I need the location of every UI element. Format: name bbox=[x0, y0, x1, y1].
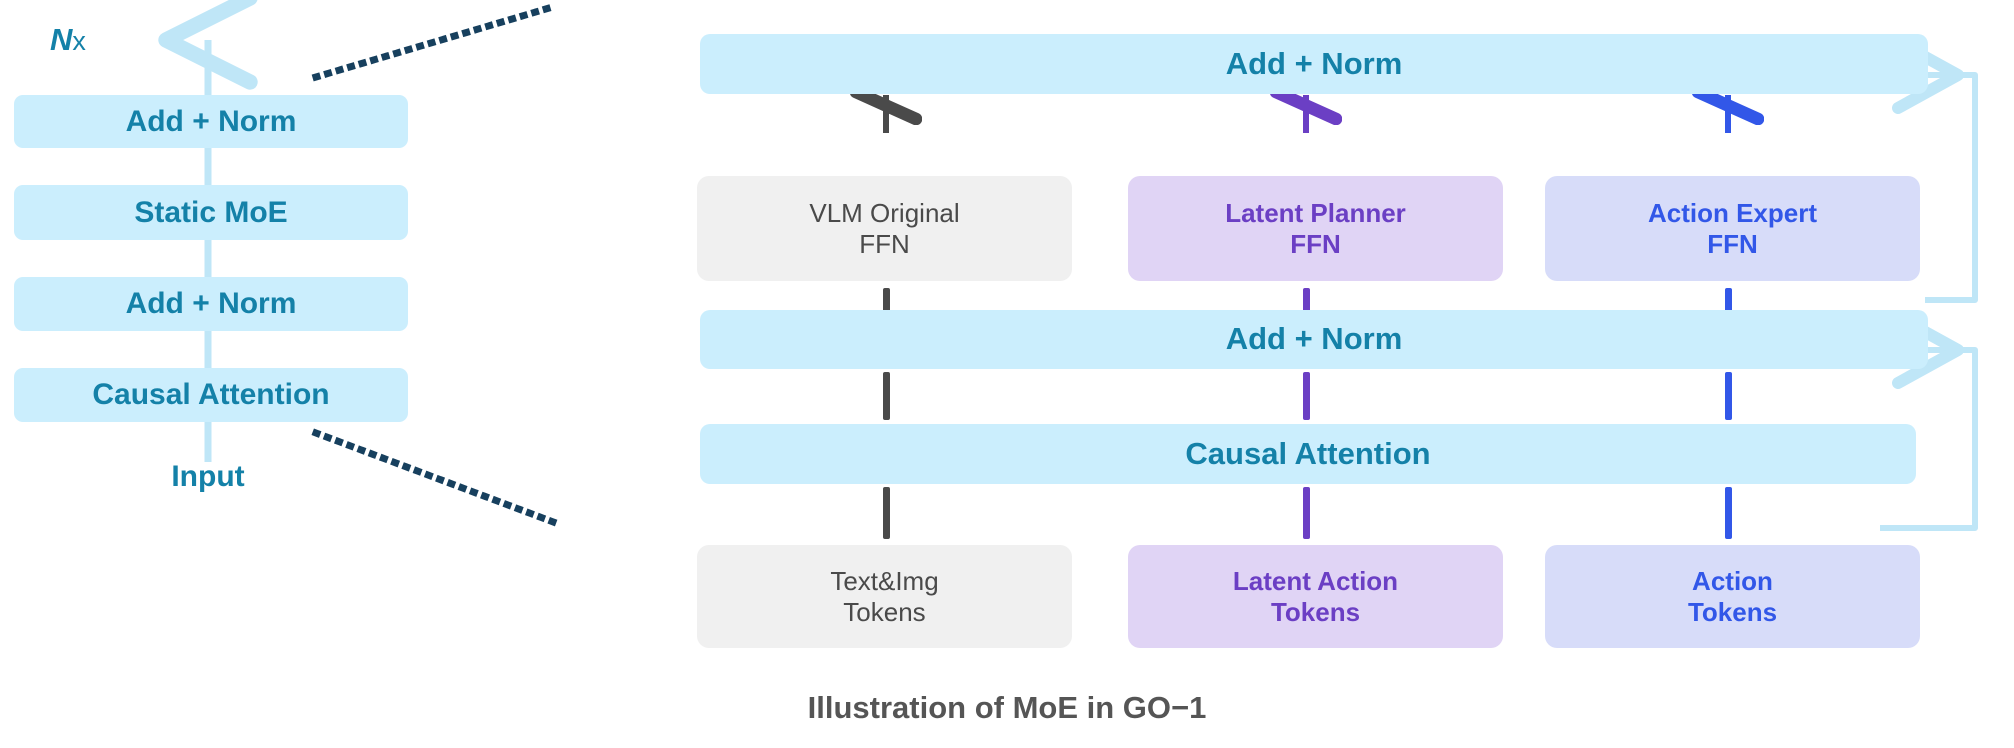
ffn-box-vlm-original[interactable]: VLM Original FFN bbox=[697, 176, 1072, 281]
left-block-static-moe[interactable]: Static MoE bbox=[14, 185, 408, 240]
left-block-causal-attention[interactable]: Causal Attention bbox=[14, 368, 408, 422]
ffn-box-line1: VLM Original bbox=[809, 198, 959, 229]
left-block-label: Causal Attention bbox=[92, 377, 329, 412]
ffn-box-line2: FFN bbox=[1290, 229, 1341, 260]
right-causal-attention-bar[interactable]: Causal Attention bbox=[700, 424, 1916, 484]
ffn-to-addnorm-arrows bbox=[886, 95, 1728, 133]
figure-caption: Illustration of MoE in GO−1 bbox=[0, 690, 2014, 726]
repeat-count-label: Nx bbox=[50, 22, 86, 58]
right-top-add-norm-bar[interactable]: Add + Norm bbox=[700, 34, 1928, 94]
left-input-label: Input bbox=[108, 460, 308, 494]
stream-line-latent-addnorm-to-attn bbox=[1303, 372, 1310, 420]
repeat-count-x: x bbox=[72, 26, 86, 56]
token-box-line2: Tokens bbox=[1688, 597, 1777, 628]
ffn-box-action-expert[interactable]: Action Expert FFN bbox=[1545, 176, 1920, 281]
token-box-latent-action[interactable]: Latent Action Tokens bbox=[1128, 545, 1503, 648]
ffn-box-line2: FFN bbox=[859, 229, 910, 260]
stream-line-vlm-tokens-to-attn bbox=[883, 487, 890, 539]
stream-line-action-addnorm-to-attn bbox=[1725, 372, 1732, 420]
token-box-line2: Tokens bbox=[843, 597, 925, 628]
right-top-add-norm-label: Add + Norm bbox=[1226, 46, 1403, 83]
ffn-box-latent-planner[interactable]: Latent Planner FFN bbox=[1128, 176, 1503, 281]
token-box-line2: Tokens bbox=[1271, 597, 1360, 628]
right-causal-attention-label: Causal Attention bbox=[1185, 436, 1430, 473]
token-box-line1: Latent Action bbox=[1233, 566, 1398, 597]
residual-skip-top bbox=[1925, 75, 1975, 300]
ffn-box-line2: FFN bbox=[1707, 229, 1758, 260]
left-block-add-norm-bottom[interactable]: Add + Norm bbox=[14, 277, 408, 331]
dotted-connector-bottom-icon bbox=[316, 433, 556, 523]
token-box-line1: Text&Img bbox=[830, 566, 938, 597]
token-box-action[interactable]: Action Tokens bbox=[1545, 545, 1920, 648]
repeat-count-n: N bbox=[50, 22, 72, 57]
ffn-box-line1: Latent Planner bbox=[1225, 198, 1406, 229]
ffn-box-line1: Action Expert bbox=[1648, 198, 1817, 229]
stream-line-latent-tokens-to-attn bbox=[1303, 487, 1310, 539]
stream-line-action-tokens-to-attn bbox=[1725, 487, 1732, 539]
token-box-line1: Action bbox=[1692, 566, 1773, 597]
right-mid-add-norm-bar[interactable]: Add + Norm bbox=[700, 310, 1928, 369]
stream-line-vlm-addnorm-to-attn bbox=[883, 372, 890, 420]
right-mid-add-norm-label: Add + Norm bbox=[1226, 321, 1403, 358]
left-block-label: Add + Norm bbox=[126, 286, 297, 321]
left-block-add-norm-top[interactable]: Add + Norm bbox=[14, 95, 408, 148]
dotted-connector-top-icon bbox=[316, 6, 556, 77]
left-block-label: Add + Norm bbox=[126, 104, 297, 139]
figure-canvas: Nx Add + Norm Static MoE Add + Norm Caus… bbox=[0, 0, 2014, 748]
token-box-text-img[interactable]: Text&Img Tokens bbox=[697, 545, 1072, 648]
left-block-label: Static MoE bbox=[134, 195, 287, 230]
